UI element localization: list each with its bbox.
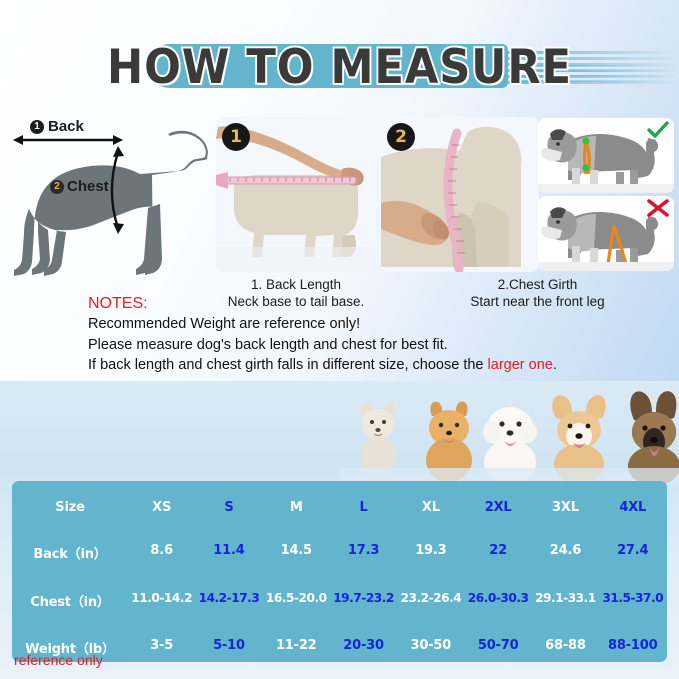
- chest-cell-xs: 11.0-14.2: [128, 591, 195, 610]
- back-measurement-label: 1 Back: [30, 118, 84, 135]
- measurement-diagram: 1 Back 2 Chest: [0, 112, 215, 280]
- back-label-text: Back: [48, 118, 84, 135]
- chest-cell-xl: 23.2-26.4: [397, 591, 464, 610]
- table-row-size: Size XS S M L XL 2XL 3XL 4XL: [12, 500, 667, 515]
- chest-cell-m: 16.5-20.0: [263, 591, 330, 610]
- caption-back-line1: 1. Back Length: [196, 276, 396, 293]
- back-number-badge: 1: [30, 120, 44, 134]
- back-cell-xl: 19.3: [397, 543, 464, 562]
- page-title: HOW TO MEASURE: [27, 40, 652, 95]
- size-cell-4xl: 4XL: [599, 500, 666, 515]
- chest-cell-3xl: 29.1-33.1: [532, 591, 599, 610]
- row-label-back: Back（in）: [12, 543, 128, 562]
- notes-line-2: Please measure dog's back length and che…: [88, 335, 557, 356]
- weight-cell-4xl: 88-100: [599, 638, 666, 657]
- photo-incorrect-placement: [538, 196, 674, 271]
- weight-cell-xs: 3-5: [128, 638, 195, 657]
- size-cell-xl: XL: [397, 500, 464, 515]
- table-row-chest: Chest（in） 11.0-14.2 14.2-17.3 16.5-20.0 …: [12, 591, 667, 610]
- photo-correct-placement: [538, 118, 674, 193]
- weight-cell-m: 11-22: [263, 638, 330, 657]
- row-label-size: Size: [12, 500, 128, 515]
- notes-line-3-pre: If back length and chest girth falls in …: [88, 357, 488, 373]
- back-cell-m: 14.5: [263, 543, 330, 562]
- notes-block: NOTES: Recommended Weight are reference …: [88, 294, 557, 376]
- size-cell-xs: XS: [128, 500, 195, 515]
- check-icon: [647, 121, 669, 139]
- chest-cell-4xl: 31.5-37.0: [599, 591, 666, 610]
- weight-cell-xl: 30-50: [397, 638, 464, 657]
- chest-cell-2xl: 26.0-30.3: [464, 591, 531, 610]
- notes-line-3-post: .: [553, 357, 557, 373]
- size-chart-infographic: HOW TO MEASURE 1 Back: [0, 0, 679, 679]
- dog-chihuahua: [360, 402, 396, 476]
- dog-breed-photo-strip: [340, 384, 679, 484]
- cross-icon: [646, 198, 670, 218]
- size-table: Size XS S M L XL 2XL 3XL 4XL Back（in） 8.…: [12, 481, 667, 662]
- photo-badge-2: 2: [387, 123, 415, 151]
- table-row-weight: Weight（lb） 3-5 5-10 11-22 20-30 30-50 50…: [12, 638, 667, 657]
- notes-title: NOTES:: [88, 294, 557, 314]
- table-row-back: Back（in） 8.6 11.4 14.5 17.3 19.3 22 24.6…: [12, 543, 667, 562]
- size-cell-s: S: [195, 500, 262, 515]
- weight-cell-2xl: 50-70: [464, 638, 531, 657]
- top-section: HOW TO MEASURE 1 Back: [0, 0, 679, 381]
- photo-badge-1: 1: [222, 123, 250, 151]
- back-cell-4xl: 27.4: [599, 543, 666, 562]
- back-cell-2xl: 22: [464, 543, 531, 562]
- photo-chest-girth: 2: [381, 117, 539, 272]
- notes-line-1: Recommended Weight are reference only!: [88, 314, 557, 335]
- photo-back-length: 1: [216, 117, 374, 272]
- size-cell-m: M: [263, 500, 330, 515]
- weight-cell-s: 5-10: [195, 638, 262, 657]
- weight-cell-l: 20-30: [330, 638, 397, 657]
- back-cell-xs: 8.6: [128, 543, 195, 562]
- chest-cell-s: 14.2-17.3: [195, 591, 262, 610]
- size-cell-l: L: [330, 500, 397, 515]
- back-cell-l: 17.3: [330, 543, 397, 562]
- chest-measure-arrow: [0, 112, 215, 280]
- caption-chest-line1: 2.Chest Girth: [430, 276, 645, 293]
- row-label-chest: Chest（in）: [12, 591, 128, 610]
- back-cell-s: 11.4: [195, 543, 262, 562]
- weight-cell-3xl: 68-88: [532, 638, 599, 657]
- chest-cell-l: 19.7-23.2: [330, 591, 397, 610]
- reference-only-footnote: reference only: [14, 652, 103, 668]
- chest-measurement-label: 2 Chest: [50, 178, 109, 195]
- chest-number-badge: 2: [50, 180, 64, 194]
- chest-label-text: Chest: [67, 178, 109, 195]
- size-cell-2xl: 2XL: [464, 500, 531, 515]
- size-cell-3xl: 3XL: [532, 500, 599, 515]
- notes-line-3: If back length and chest girth falls in …: [88, 355, 557, 376]
- notes-line-3-highlight: larger one: [488, 357, 553, 373]
- back-cell-3xl: 24.6: [532, 543, 599, 562]
